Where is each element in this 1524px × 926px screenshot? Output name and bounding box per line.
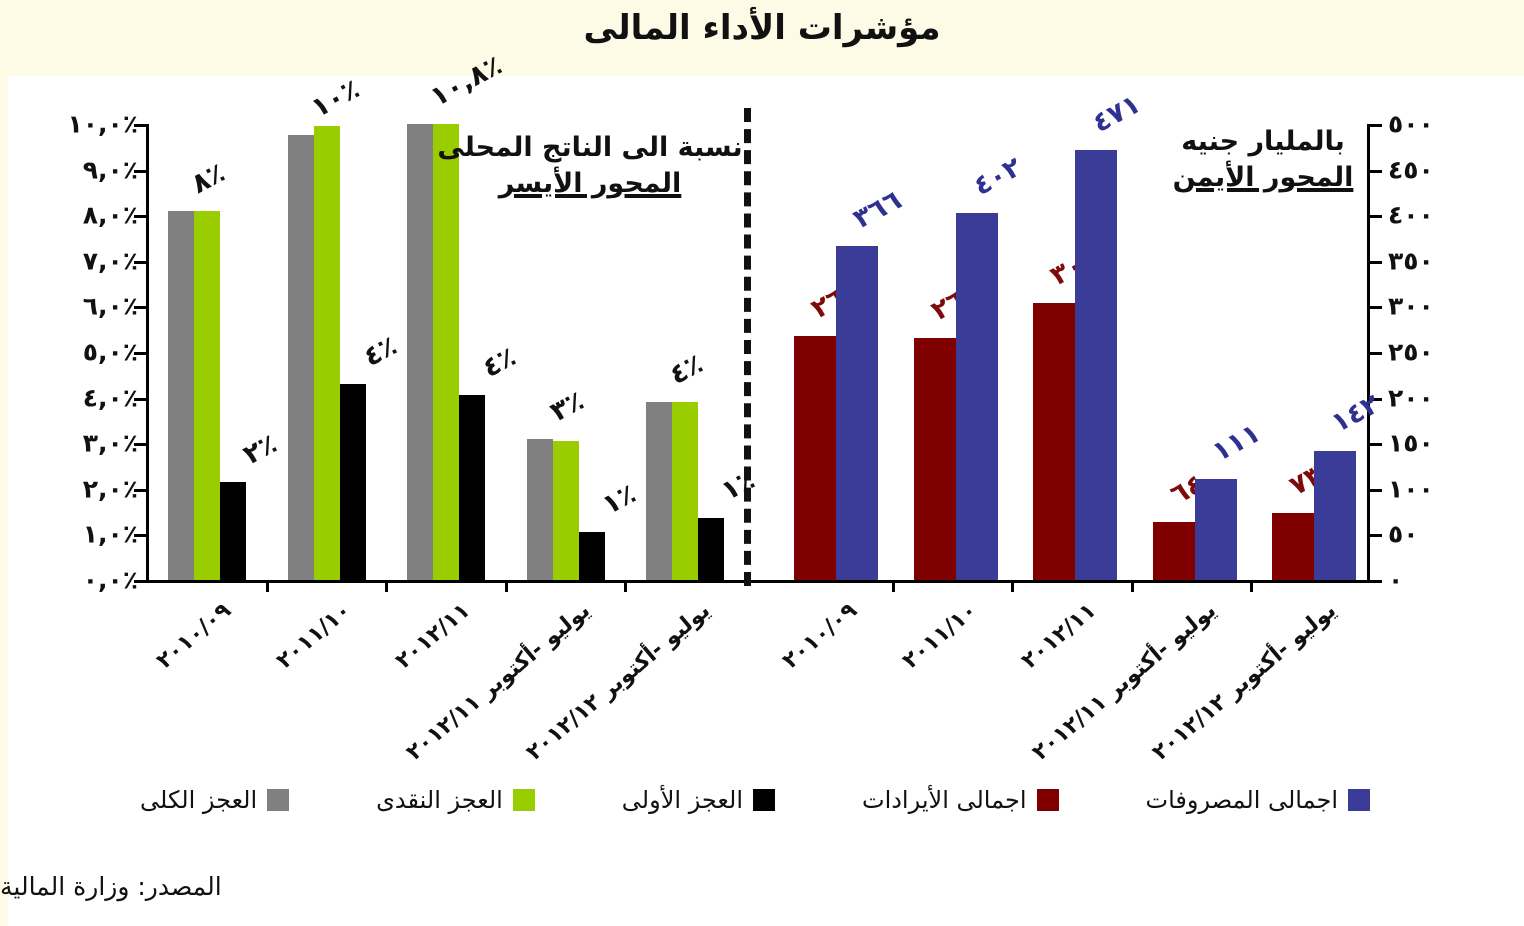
axis-tick-label: ٤٥٠	[1388, 155, 1498, 184]
bar-value-label: ٤٧١	[1088, 89, 1146, 140]
category-tick-mark	[266, 580, 269, 592]
axis-tick-label: ١٥٠	[1388, 429, 1498, 458]
axis-tick-mark	[134, 398, 146, 401]
axis-tick-mark	[134, 170, 146, 173]
axis-tick-label: ٥٠	[1388, 520, 1498, 549]
axis-tick-label: ٧,٠٪	[34, 246, 138, 275]
bar-value-label: ٤٠٢	[968, 152, 1026, 203]
bar-value-label: ٢٪	[238, 428, 282, 471]
bar-value-label: ٣٦٦	[848, 185, 906, 236]
bar	[1195, 479, 1237, 580]
legend-label: اجمالى المصروفات	[1145, 786, 1338, 814]
legend-item: اجمالى الأيرادات	[862, 786, 1059, 814]
axis-tick-label: ٨,٠٪	[34, 201, 138, 230]
axis-tick-label: ٣٠٠	[1388, 292, 1498, 321]
legend-swatch-primary_deficit	[753, 789, 775, 811]
bar	[698, 518, 724, 580]
left-annotation-line1: نسبة الى الناتج المحلى	[420, 130, 760, 166]
legend-label: اجمالى الأيرادات	[862, 786, 1027, 814]
axis-tick-label: ٢,٠٪	[34, 474, 138, 503]
bar	[168, 211, 194, 580]
bar	[459, 395, 485, 580]
axis-tick-label: ٠	[1388, 566, 1498, 595]
left-background-strip	[0, 76, 8, 926]
axis-tick-label: ٤,٠٪	[34, 383, 138, 412]
legend-swatch-total_deficit	[267, 789, 289, 811]
category-tick-mark	[385, 580, 388, 592]
legend-swatch-revenues	[1037, 789, 1059, 811]
legend-swatch-expenditures	[1348, 789, 1370, 811]
bar	[1153, 522, 1195, 580]
legend-swatch-cash_deficit	[513, 789, 535, 811]
bar	[646, 402, 672, 580]
bar-value-label: ١٪	[597, 478, 641, 521]
legend-item: العجز النقدى	[376, 786, 535, 814]
bar-value-label: ١٠٪	[306, 74, 364, 125]
bar-value-label: ١٪	[717, 465, 761, 508]
legend-label: العجز النقدى	[376, 786, 503, 814]
bar-value-label: ٤٪	[665, 348, 709, 391]
left-annotation-line2: المحور الأيسر	[420, 166, 760, 202]
bar-value-label: ٨٪	[186, 157, 230, 200]
axis-tick-mark	[1370, 489, 1382, 492]
axis-tick-label: ٥٠٠	[1388, 110, 1498, 139]
axis-tick-mark	[1370, 580, 1382, 583]
axis-tick-label: ٢٥٠	[1388, 338, 1498, 367]
axis-tick-mark	[1370, 306, 1382, 309]
bar	[340, 384, 366, 580]
bar	[527, 439, 553, 580]
axis-tick-mark	[134, 306, 146, 309]
axis-tick-label: ٣,٠٪	[34, 429, 138, 458]
left-axis-annotation: نسبة الى الناتج المحلى المحور الأيسر	[420, 130, 760, 203]
bar	[579, 532, 605, 580]
bar	[1314, 451, 1356, 581]
axis-tick-label: ٩,٠٪	[34, 155, 138, 184]
legend-item: اجمالى المصروفات	[1145, 786, 1370, 814]
bar-value-label: ٣٪	[545, 385, 589, 428]
bar	[1033, 303, 1075, 580]
axis-tick-label: ١٠٠	[1388, 474, 1498, 503]
axis-tick-mark	[134, 261, 146, 264]
bar	[1272, 513, 1314, 580]
legend-label: العجز الأولى	[622, 786, 743, 814]
right-axis-annotation: بالمليار جنيه المحور الأيمن	[1148, 124, 1378, 197]
bar-value-label: ١١١	[1207, 417, 1265, 468]
page-title: مؤشرات الأداء المالى	[0, 8, 1524, 49]
right-annotation-line1: بالمليار جنيه	[1148, 124, 1378, 160]
bar-value-label: ٤٪	[478, 341, 522, 384]
axis-tick-label: ٠,٠٪	[34, 566, 138, 595]
bar	[288, 135, 314, 580]
bar-value-label: ١٤٢	[1327, 389, 1385, 440]
axis-tick-mark	[134, 124, 146, 127]
axis-tick-mark	[134, 534, 146, 537]
bar	[794, 336, 836, 580]
axis-tick-mark	[134, 443, 146, 446]
category-tick-mark	[505, 580, 508, 592]
axis-tick-mark	[1370, 352, 1382, 355]
axis-tick-label: ٣٥٠	[1388, 246, 1498, 275]
axis-tick-label: ٤٠٠	[1388, 201, 1498, 230]
axis-tick-mark	[1370, 534, 1382, 537]
axis-tick-mark	[1370, 443, 1382, 446]
axis-tick-label: ٢٠٠	[1388, 383, 1498, 412]
category-tick-mark	[1131, 580, 1134, 592]
axis-tick-mark	[134, 489, 146, 492]
source-note: المصدر: وزارة المالية	[0, 872, 1430, 901]
legend-item: العجز الأولى	[622, 786, 775, 814]
bar	[1075, 150, 1117, 580]
legend-item: العجز الكلى	[140, 786, 289, 814]
axis-tick-mark	[1370, 215, 1382, 218]
category-tick-mark	[1011, 580, 1014, 592]
axis-tick-label: ١٠,٠٪	[34, 110, 138, 139]
bar	[553, 441, 579, 580]
axis-tick-label: ٥,٠٪	[34, 338, 138, 367]
axis-tick-label: ٦,٠٪	[34, 292, 138, 321]
category-tick-mark	[892, 580, 895, 592]
right-annotation-line2: المحور الأيمن	[1148, 160, 1378, 196]
bar	[314, 126, 340, 580]
axis-tick-label: ١,٠٪	[34, 520, 138, 549]
bar	[672, 402, 698, 580]
category-tick-mark	[624, 580, 627, 592]
axis-tick-mark	[1370, 261, 1382, 264]
bar	[956, 213, 998, 580]
axis-tick-mark	[134, 352, 146, 355]
chart-legend: العجز الكلىالعجز النقدىالعجز الأولىاجمال…	[140, 786, 1370, 814]
bar	[914, 338, 956, 580]
category-tick-mark	[1250, 580, 1253, 592]
bar	[220, 482, 246, 580]
bar	[836, 246, 878, 580]
bar-value-label: ٤٪	[358, 330, 402, 373]
bar	[194, 211, 220, 580]
axis-tick-mark	[134, 215, 146, 218]
legend-label: العجز الكلى	[140, 786, 257, 814]
axis-tick-mark	[134, 580, 146, 583]
